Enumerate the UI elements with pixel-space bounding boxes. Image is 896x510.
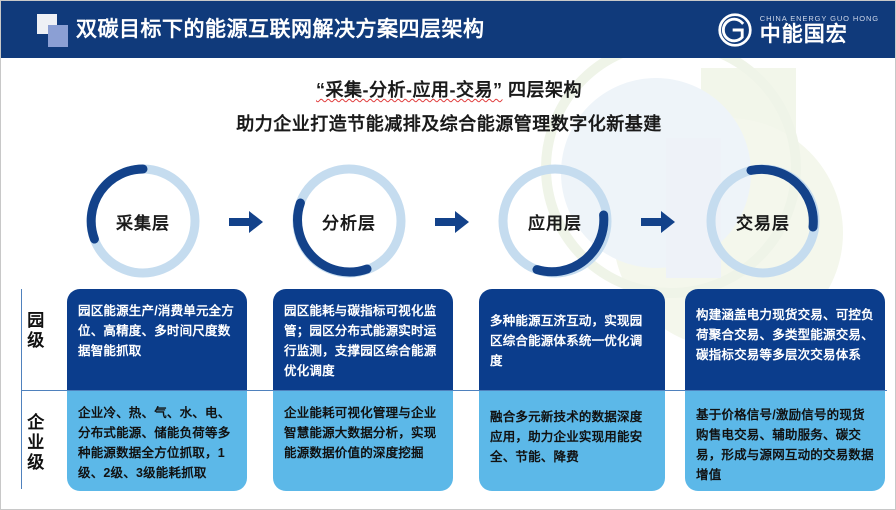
subtitle-line-1: “采集-分析-应用-交易” 四层架构 — [1, 77, 896, 103]
flow-node-4-label: 交易层 — [701, 159, 825, 283]
subtitle-block: “采集-分析-应用-交易” 四层架构 助力企业打造节能减排及综合能源管理数字化新… — [1, 77, 896, 139]
flow-node-3-label: 应用层 — [493, 159, 617, 283]
flow-node-3[interactable]: 应用层 — [493, 159, 617, 283]
matrix-vertical-divider — [21, 289, 22, 489]
flow-diagram: 采集层 分析层 应用层 — [1, 159, 896, 287]
right-arrow-icon-1 — [229, 209, 265, 235]
flow-node-1-label: 采集层 — [81, 159, 205, 283]
flow-node-4[interactable]: 交易层 — [701, 159, 825, 283]
subtitle-quoted-phrase: “采集-分析-应用-交易” — [316, 80, 502, 100]
card-bottom-3[interactable]: 融合多元新技术的数据深度应用，助力企业实现用能安全、节能、降费 — [479, 391, 665, 491]
header-accent-squares — [37, 14, 69, 46]
right-arrow-icon-2 — [435, 209, 471, 235]
subtitle-line-1-tail: 四层架构 — [502, 80, 582, 100]
card-bottom-4[interactable]: 基于价格信号/激励信号的现货购售电交易、辅助服务、碳交易，形成与源网互动的交易数… — [685, 391, 885, 491]
company-logo: CHINA ENERGY GUO HONG 中能国宏 — [717, 11, 879, 49]
card-bottom-2[interactable]: 企业能耗可视化管理与企业智慧能源大数据分析，实现能源数据价值的深度挖掘 — [273, 391, 453, 491]
flow-node-1[interactable]: 采集层 — [81, 159, 205, 283]
right-arrow-icon-3 — [641, 209, 677, 235]
subtitle-line-2: 助力企业打造节能减排及综合能源管理数字化新基建 — [1, 109, 896, 139]
header-bar: 双碳目标下的能源互联网解决方案四层架构 CHINA ENERGY GUO HON… — [1, 1, 896, 58]
logo-english-name: CHINA ENERGY GUO HONG — [760, 15, 879, 23]
logo-chinese-name: 中能国宏 — [760, 24, 879, 45]
card-top-4[interactable]: 构建涵盖电力现货交易、可控负荷聚合交易、多类型能源交易、碳指标交易等多层次交易体… — [685, 289, 885, 390]
flow-node-2-label: 分析层 — [287, 159, 411, 283]
card-top-3[interactable]: 多种能源互济互动，实现园区综合能源体系统一优化调度 — [479, 289, 665, 390]
slide-canvas: 双碳目标下的能源互联网解决方案四层架构 CHINA ENERGY GUO HON… — [0, 0, 896, 510]
circle-g-logo-icon — [717, 12, 753, 48]
accent-square-blue — [48, 25, 68, 47]
flow-node-2[interactable]: 分析层 — [287, 159, 411, 283]
card-bottom-1[interactable]: 企业冷、热、气、水、电、分布式能源、储能负荷等多种能源数据全方位抓取，1级、2级… — [67, 391, 247, 491]
logo-text-block: CHINA ENERGY GUO HONG 中能国宏 — [760, 15, 879, 46]
page-title: 双碳目标下的能源互联网解决方案四层架构 — [76, 13, 485, 43]
card-top-2[interactable]: 园区能耗与碳指标可视化监管；园区分布式能源实时运行监测，支撑园区综合能源优化调度 — [273, 289, 453, 390]
card-top-1[interactable]: 园区能源生产/消费单元全方位、高精度、多时间尺度数据智能抓取 — [67, 289, 247, 390]
